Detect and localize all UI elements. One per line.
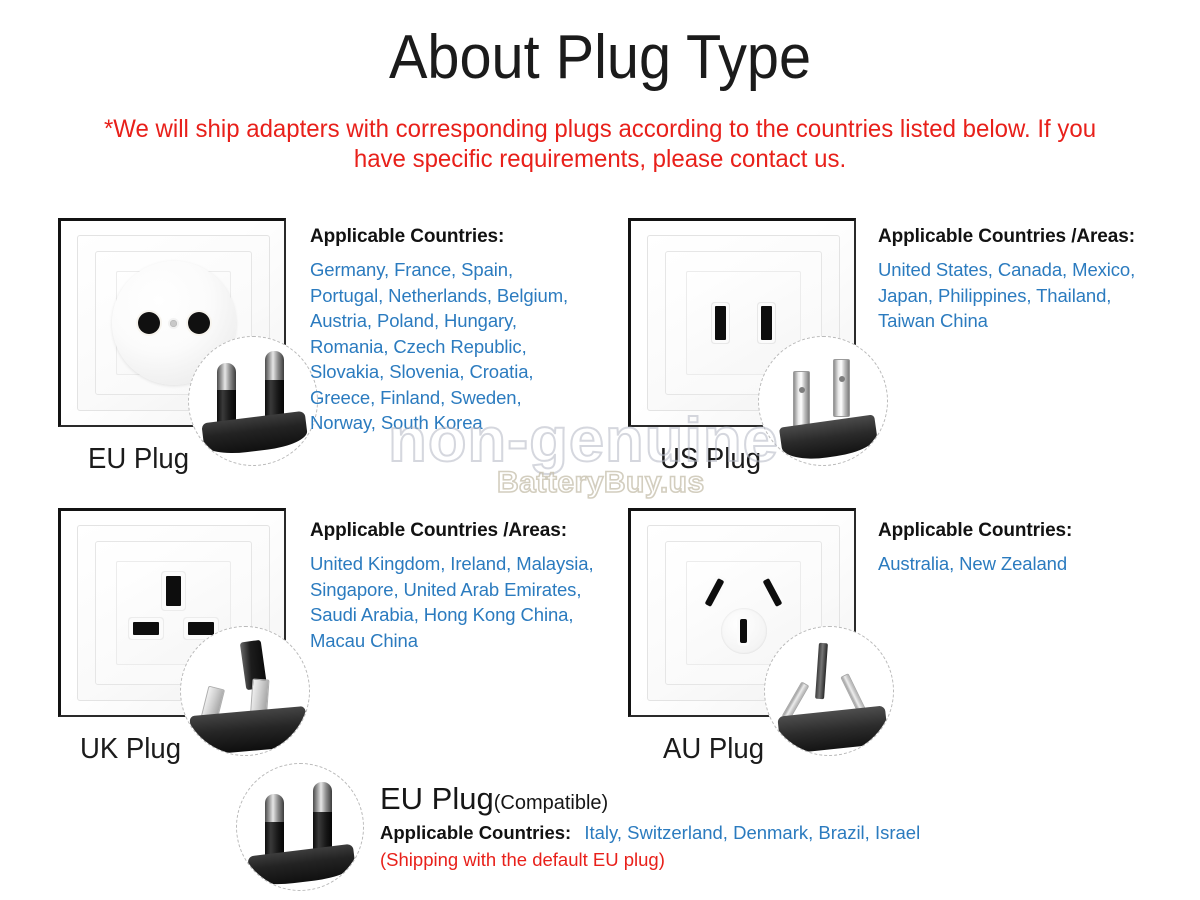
eu-compatible-shipping-note: (Shipping with the default EU plug): [380, 849, 665, 871]
us-plug-blade-right: [833, 359, 850, 417]
au-countries-list: Australia, New Zealand: [878, 551, 1178, 577]
eu-socket-hole-left: [138, 312, 160, 334]
eu-countries-header: Applicable Countries:: [310, 226, 590, 248]
us-socket-slot-right: [761, 306, 772, 340]
eu-compatible-countries-header: Applicable Countries:: [380, 822, 571, 843]
eu-compatible-title-suffix: (Compatible): [494, 792, 608, 814]
uk-socket-slot-left: [133, 622, 159, 635]
eu-earth-pin: [170, 320, 177, 327]
uk-countries-list: United Kingdom, Ireland, Malaysia, Singa…: [310, 551, 610, 653]
au-countries-header: Applicable Countries:: [878, 520, 1178, 542]
eu-compatible-countries-list: Italy, Switzerland, Denmark, Brazil, Isr…: [584, 822, 920, 843]
eu-countries-column: Applicable Countries: Germany, France, S…: [310, 226, 590, 436]
au-socket-slot-right: [763, 578, 783, 607]
au-countries-column: Applicable Countries: Australia, New Zea…: [878, 520, 1178, 577]
uk-socket-illustration: [58, 508, 286, 717]
us-plug-blade-left: [793, 371, 810, 427]
au-plug-earth-pin: [815, 643, 828, 699]
au-socket-earth-recess: [721, 608, 767, 654]
us-countries-column: Applicable Countries /Areas: United Stat…: [878, 226, 1168, 334]
eu-compatible-countries-line: Applicable Countries: Italy, Switzerland…: [380, 822, 920, 844]
eu-socket-hole-right: [188, 312, 210, 334]
eu-compatible-plug-inset: [236, 763, 364, 891]
eu-compat-body: [247, 844, 356, 889]
us-countries-header: Applicable Countries /Areas:: [878, 226, 1168, 248]
eu-compat-pin-right: [313, 782, 332, 854]
page-title: About Plug Type: [42, 22, 1158, 93]
us-socket-slot-left: [715, 306, 726, 340]
uk-plug-inset: [180, 626, 310, 756]
au-plug-inset: [764, 626, 894, 756]
eu-plug-label: EU Plug: [88, 443, 189, 476]
plug-type-infographic: About Plug Type *We will ship adapters w…: [0, 0, 1200, 900]
eu-compatible-title-main: EU Plug: [380, 781, 494, 816]
shipping-notice: *We will ship adapters with correspondin…: [91, 114, 1109, 174]
us-socket-illustration: [628, 218, 856, 427]
uk-socket-slot-right: [188, 622, 214, 635]
au-plug-body: [777, 705, 888, 754]
au-socket-slot-left: [705, 578, 725, 607]
eu-plug-pin-right: [265, 351, 284, 421]
au-socket-earth-slot: [740, 619, 747, 643]
eu-socket-illustration: [58, 218, 286, 427]
eu-countries-list: Germany, France, Spain, Portugal, Nether…: [310, 257, 590, 436]
eu-plug-pin-left: [217, 363, 236, 427]
us-countries-list: United States, Canada, Mexico, Japan, Ph…: [878, 257, 1168, 334]
us-plug-inset: [758, 336, 888, 466]
uk-plug-label: UK Plug: [80, 733, 181, 766]
eu-plug-inset: [188, 336, 318, 466]
au-socket-illustration: [628, 508, 856, 717]
au-plug-label: AU Plug: [663, 733, 764, 766]
eu-compatible-title: EU Plug(Compatible): [380, 781, 608, 817]
uk-plug-body: [189, 706, 308, 756]
uk-socket-earth-slot: [166, 576, 181, 606]
uk-countries-header: Applicable Countries /Areas:: [310, 520, 610, 542]
uk-countries-column: Applicable Countries /Areas: United King…: [310, 520, 610, 653]
eu-compat-pin-left: [265, 794, 284, 860]
us-plug-label: US Plug: [660, 443, 761, 476]
